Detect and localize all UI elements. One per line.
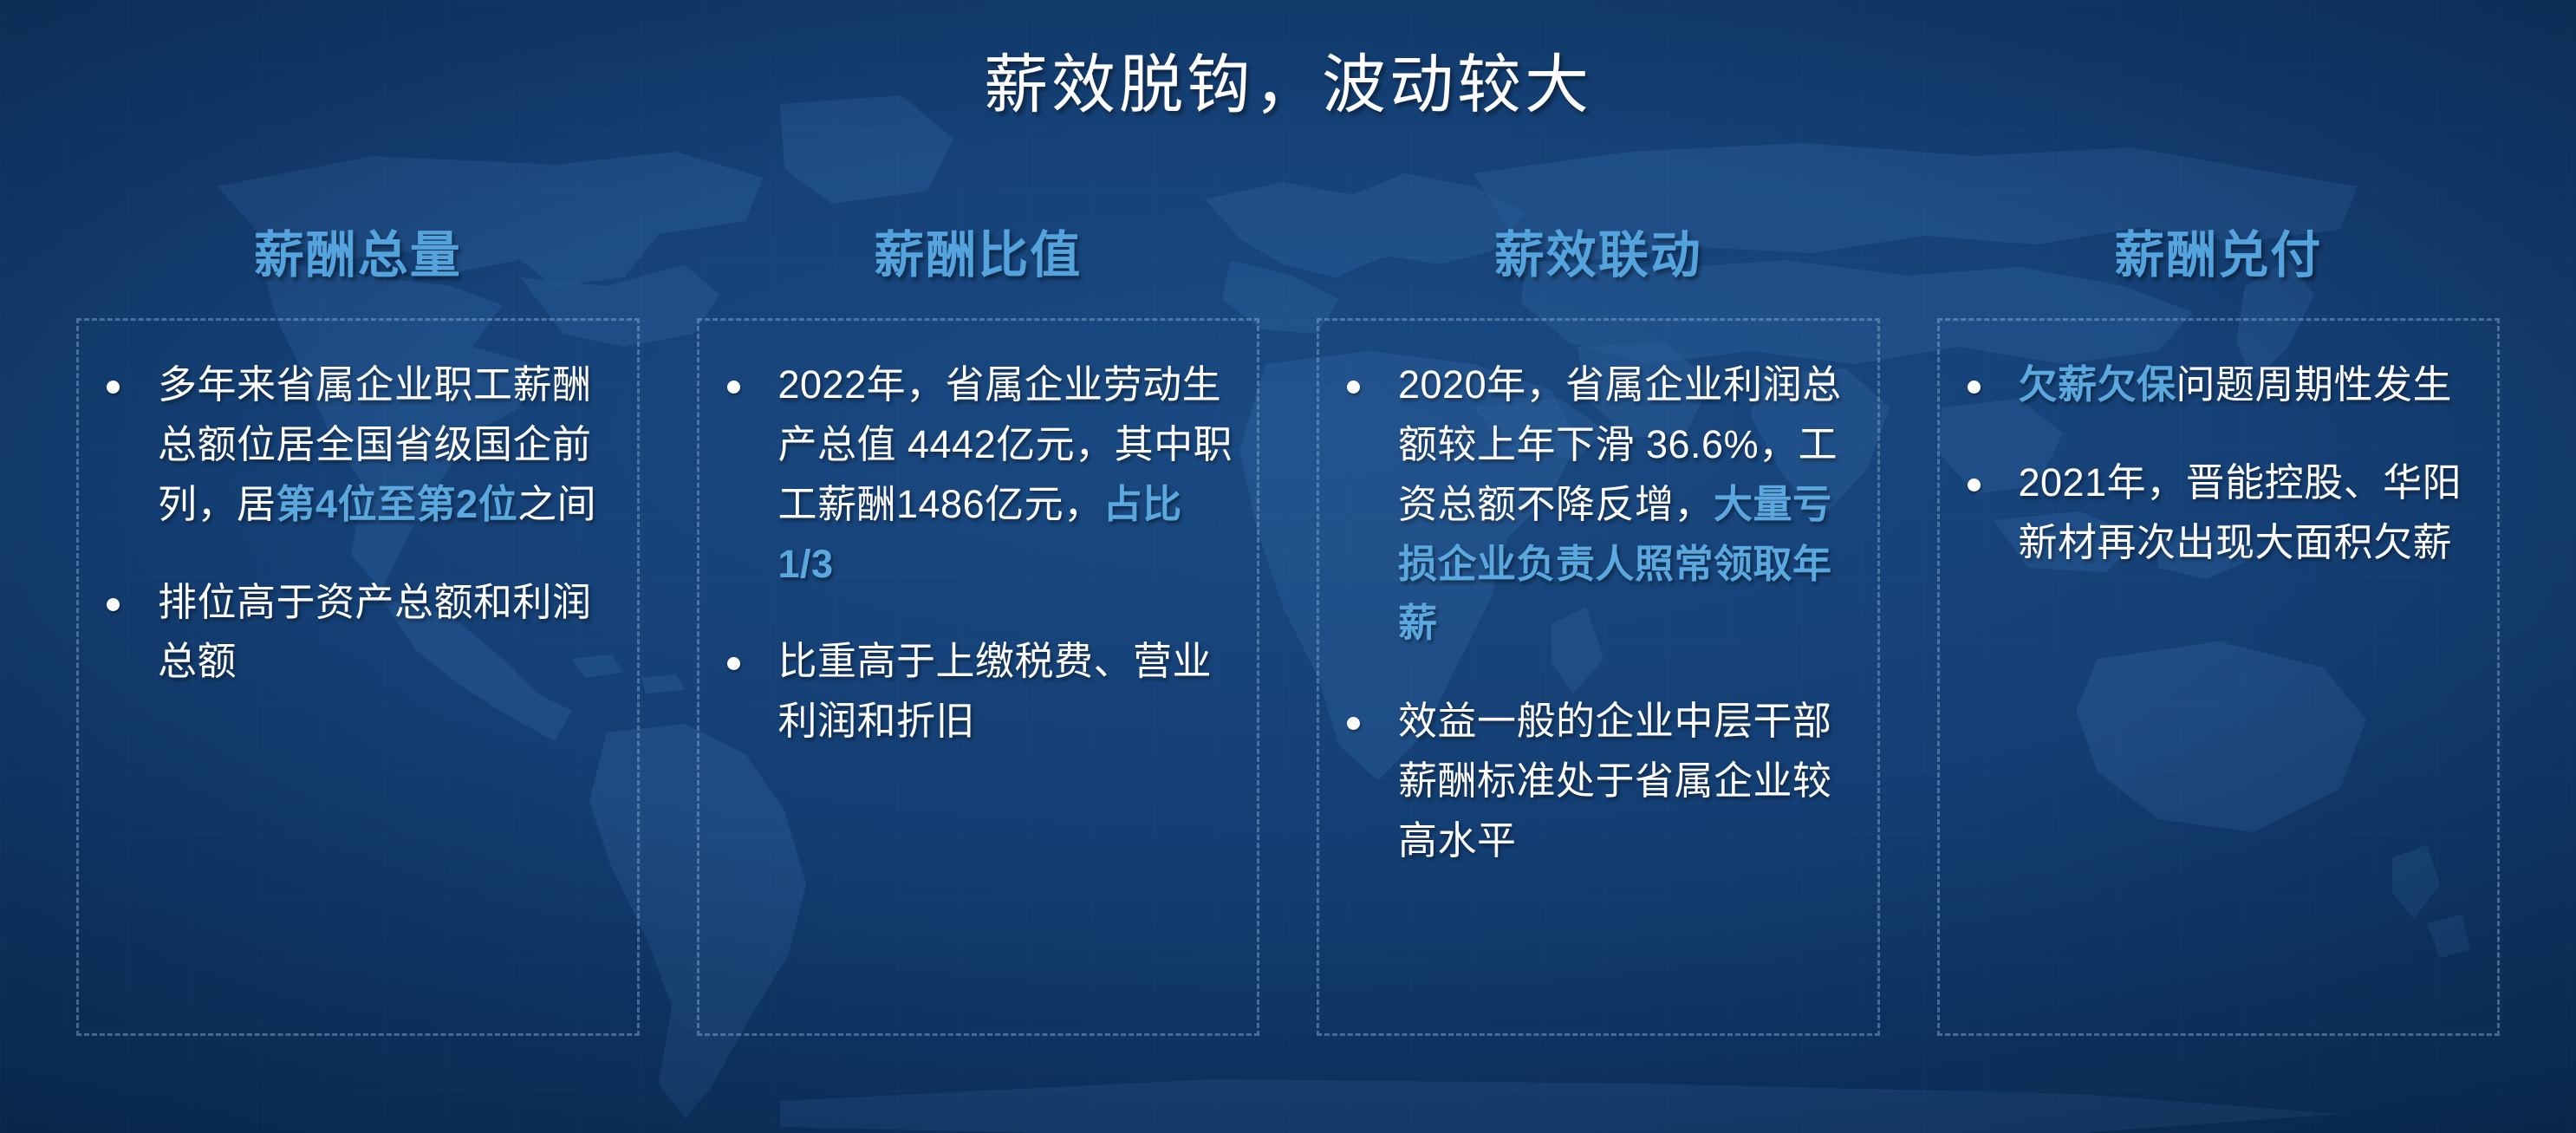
bullet-text: 2021年，晋能控股、华阳新材再次出现大面积欠薪 (2019, 453, 2475, 573)
bullet-dot-icon (1347, 381, 1360, 394)
bullet-text: 多年来省属企业职工薪酬总额位居全国省级国企前列，居第4位至第2位之间 (158, 355, 615, 535)
content-columns: 薪酬总量多年来省属企业职工薪酬总额位居全国省级国企前列，居第4位至第2位之间排位… (76, 212, 2500, 1036)
bullet-list: 欠薪欠保问题周期性发生2021年，晋能控股、华阳新材再次出现大面积欠薪 (1962, 355, 2475, 573)
bullet-dot-icon (107, 598, 120, 611)
list-item: 2020年，省属企业利润总额较上年下滑 36.6%，工资总额不降反增，大量亏损企… (1342, 355, 1855, 654)
bullet-list: 2022年，省属企业劳动生产总值 4442亿元，其中职工薪酬1486亿元，占比1… (722, 355, 1235, 752)
text-segment: 之间 (517, 482, 596, 526)
bullet-list: 2020年，省属企业利润总额较上年下滑 36.6%，工资总额不降反增，大量亏损企… (1342, 355, 1855, 871)
bullet-list: 多年来省属企业职工薪酬总额位居全国省级国企前列，居第4位至第2位之间排位高于资产… (101, 355, 615, 692)
content-column: 薪酬总量多年来省属企业职工薪酬总额位居全国省级国企前列，居第4位至第2位之间排位… (76, 212, 640, 1036)
bullet-text: 效益一般的企业中层干部薪酬标准处于省属企业较高水平 (1398, 692, 1855, 871)
column-dashed-panel: 2022年，省属企业劳动生产总值 4442亿元，其中职工薪酬1486亿元，占比1… (697, 318, 1260, 1036)
content-column: 薪酬兑付欠薪欠保问题周期性发生2021年，晋能控股、华阳新材再次出现大面积欠薪 (1937, 212, 2501, 1036)
column-header-2: 薪酬比值 (697, 212, 1260, 318)
page-title: 薪效脱钩，波动较大 (0, 33, 2576, 126)
bullet-text: 排位高于资产总额和利润总额 (158, 573, 615, 693)
text-segment: 问题周期性发生 (2176, 362, 2453, 407)
list-item: 2022年，省属企业劳动生产总值 4442亿元，其中职工薪酬1486亿元，占比1… (722, 355, 1235, 594)
text-segment: 效益一般的企业中层干部薪酬标准处于省属企业较高水平 (1398, 699, 1832, 863)
text-segment: 2021年，晋能控股、华阳新材再次出现大面积欠薪 (2019, 460, 2462, 564)
bullet-dot-icon (1347, 717, 1360, 730)
list-item: 效益一般的企业中层干部薪酬标准处于省属企业较高水平 (1342, 692, 1855, 871)
bullet-dot-icon (727, 657, 740, 670)
list-item: 多年来省属企业职工薪酬总额位居全国省级国企前列，居第4位至第2位之间 (101, 355, 615, 535)
list-item: 排位高于资产总额和利润总额 (101, 573, 615, 693)
text-segment: 排位高于资产总额和利润总额 (158, 580, 592, 684)
column-header-3: 薪效联动 (1317, 212, 1880, 318)
bullet-text: 比重高于上缴税费、营业利润和折旧 (778, 632, 1235, 752)
column-header-1: 薪酬总量 (76, 212, 640, 318)
list-item: 比重高于上缴税费、营业利润和折旧 (722, 632, 1235, 752)
bullet-text: 欠薪欠保问题周期性发生 (2019, 355, 2475, 415)
bullet-dot-icon (727, 381, 740, 394)
bullet-dot-icon (1968, 479, 1981, 492)
bullet-text: 2022年，省属企业劳动生产总值 4442亿元，其中职工薪酬1486亿元，占比1… (778, 355, 1235, 594)
column-dashed-panel: 欠薪欠保问题周期性发生2021年，晋能控股、华阳新材再次出现大面积欠薪 (1937, 318, 2501, 1036)
column-header-4: 薪酬兑付 (1937, 212, 2501, 318)
column-dashed-panel: 2020年，省属企业利润总额较上年下滑 36.6%，工资总额不降反增，大量亏损企… (1317, 318, 1880, 1036)
list-item: 欠薪欠保问题周期性发生 (1962, 355, 2475, 415)
bullet-dot-icon (1968, 381, 1981, 394)
bullet-text: 2020年，省属企业利润总额较上年下滑 36.6%，工资总额不降反增，大量亏损企… (1398, 355, 1855, 654)
bullet-dot-icon (107, 381, 120, 394)
list-item: 2021年，晋能控股、华阳新材再次出现大面积欠薪 (1962, 453, 2475, 573)
content-column: 薪酬比值2022年，省属企业劳动生产总值 4442亿元，其中职工薪酬1486亿元… (697, 212, 1260, 1036)
content-column: 薪效联动2020年，省属企业利润总额较上年下滑 36.6%，工资总额不降反增，大… (1317, 212, 1880, 1036)
highlighted-text-segment: 欠薪欠保 (2019, 362, 2176, 407)
highlighted-text-segment: 第4位至第2位 (276, 482, 518, 526)
column-dashed-panel: 多年来省属企业职工薪酬总额位居全国省级国企前列，居第4位至第2位之间排位高于资产… (76, 318, 640, 1036)
text-segment: 比重高于上缴税费、营业利润和折旧 (778, 639, 1213, 743)
